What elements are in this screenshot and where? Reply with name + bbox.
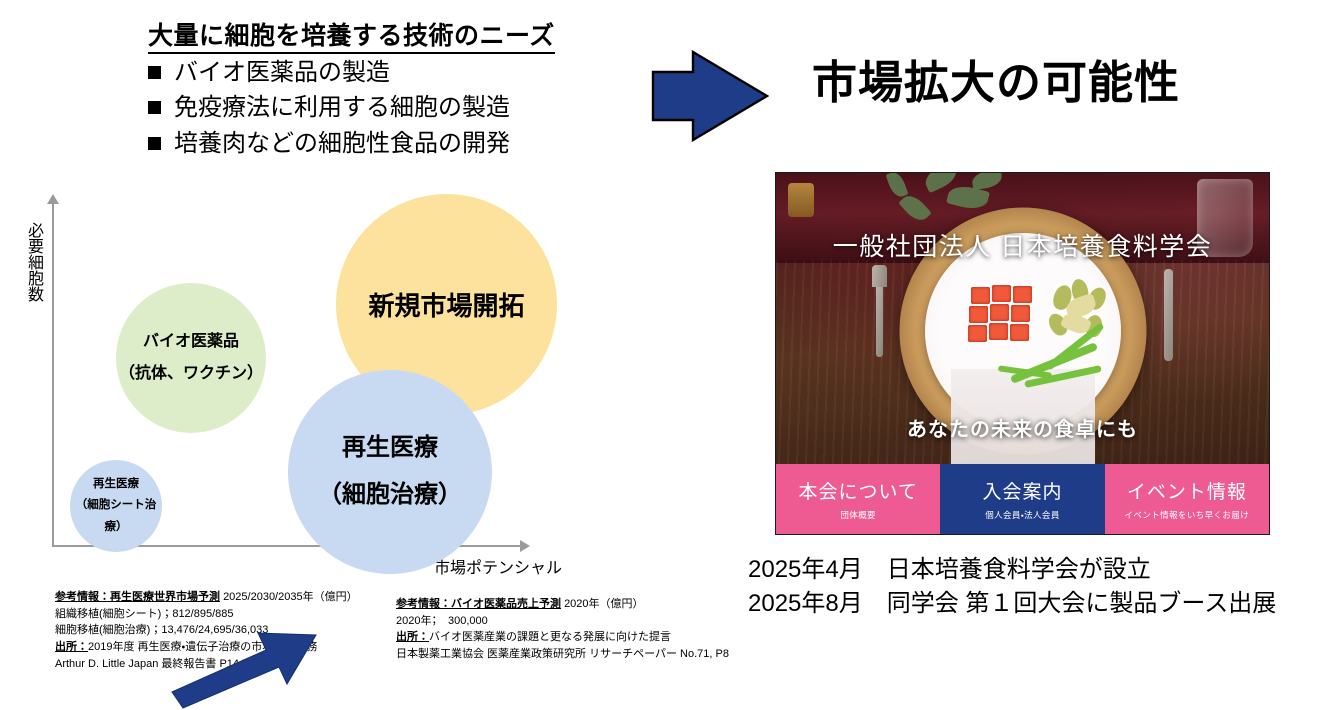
y-axis-arrowhead-icon (47, 194, 59, 204)
nav-item-sublabel: 団体概要 (840, 509, 876, 521)
cultured-meat-cube (1013, 286, 1032, 303)
timeline-entry: 2025年8月 同学会 第１回大会に製品ブース出展 (748, 587, 1276, 621)
footnote-heading-tail: 2020年（億円） (564, 598, 643, 610)
cultured-meat-cube (989, 323, 1008, 340)
growth-arrow-icon (170, 600, 320, 710)
needs-item-label: 培養肉などの細胞性食品の開発 (174, 128, 510, 161)
footnote-line: 2020年； 300,000 (396, 613, 729, 630)
cultured-meat-cube (1011, 305, 1030, 322)
needs-list-item: 培養肉などの細胞性食品の開発 (148, 128, 618, 161)
needs-item-label: 免疫療法に利用する細胞の製造 (174, 92, 510, 125)
timeline-entry: 2025年4月 日本培養食料学会が設立 (748, 553, 1276, 587)
bubble-label-line: バイオ医薬品 (143, 326, 239, 358)
footnote-heading: 参考情報：バイオ医薬品売上予測 (396, 598, 561, 610)
right-arrow-icon (650, 50, 770, 142)
nav-item-sublabel: 個人会員・法人会員 (985, 509, 1060, 521)
timeline-block: 2025年4月 日本培養食料学会が設立 2025年8月 同学会 第１回大会に製品… (748, 553, 1276, 621)
bubble-chart: 必要細胞数 市場ポテンシャル バイオ医薬品 （抗体、ワクチン） 新規市場開拓 再… (0, 180, 620, 580)
nav-item-label: イベント情報 (1127, 477, 1247, 504)
bubble-label-line: （細胞シート治療） (70, 495, 162, 538)
needs-title: 大量に細胞を培養する技術のニーズ (148, 22, 555, 54)
bubble-label-line: （細胞治療） (318, 472, 462, 519)
fork-tines-icon (872, 265, 887, 287)
knife-icon (1164, 269, 1173, 361)
footnote-source-text: バイオ医薬産業の課題と更なる発展に向けた提言 (429, 631, 671, 643)
cultured-meat-cube (992, 285, 1011, 302)
footnote-biopharma-sales: 参考情報：バイオ医薬品売上予測 2020年（億円） 2020年； 300,000… (396, 596, 729, 663)
nav-item-membership[interactable]: 入会案内 個人会員・法人会員 (940, 464, 1104, 534)
fork-icon (876, 281, 883, 357)
website-screenshot-panel: 一般社団法人 日本培養食料学会 あなたの未来の食卓にも 本会について 団体概要 … (775, 172, 1270, 535)
website-tagline: あなたの未来の食卓にも (776, 413, 1269, 442)
y-axis-label: 必要細胞数 (18, 222, 42, 302)
square-bullet-icon (148, 66, 161, 79)
cultured-meat-cube (969, 306, 988, 323)
nav-item-label: 本会について (798, 477, 917, 504)
cultured-meat-cube (1010, 324, 1029, 341)
cultured-meat-cube (968, 325, 987, 342)
cultured-meat-cube (990, 304, 1009, 321)
nav-item-sublabel: イベント情報をいち早くお届け (1125, 509, 1250, 521)
nav-item-events[interactable]: イベント情報 イベント情報をいち早くお届け (1105, 464, 1269, 534)
nav-item-about[interactable]: 本会について 団体概要 (776, 464, 940, 534)
website-hero-image: 一般社団法人 日本培養食料学会 あなたの未来の食卓にも (776, 173, 1269, 464)
slide-root: 大量に細胞を培養する技術のニーズ バイオ医薬品の製造 免疫療法に利用する細胞の製… (0, 0, 1339, 655)
bubble-label-line: （抗体、ワクチン） (119, 358, 263, 390)
footnote-source-label: 出所： (55, 641, 88, 653)
candle-decor (788, 183, 814, 217)
website-title: 一般社団法人 日本培養食料学会 (776, 227, 1269, 263)
nav-item-label: 入会案内 (982, 477, 1062, 504)
needs-list-item: 免疫療法に利用する細胞の製造 (148, 92, 618, 125)
square-bullet-icon (148, 101, 161, 114)
bubble-label-line: 新規市場開拓 (368, 286, 524, 323)
x-axis-label: 市場ポテンシャル (434, 554, 562, 578)
website-nav-bar: 本会について 団体概要 入会案内 個人会員・法人会員 イベント情報 イベント情報… (776, 464, 1269, 534)
needs-block: 大量に細胞を培養する技術のニーズ バイオ医薬品の製造 免疫療法に利用する細胞の製… (148, 22, 618, 161)
square-bullet-icon (148, 137, 161, 150)
footnote-source-label: 出所： (396, 631, 429, 643)
page-title: 市場拡大の可能性 (812, 58, 1312, 108)
bubble-label-line: 再生医療 (342, 425, 438, 472)
needs-list-item: バイオ医薬品の製造 (148, 57, 618, 90)
x-axis-arrowhead-icon (520, 540, 530, 552)
cultured-meat-cube (971, 287, 990, 304)
bubble-regenerative-large: 再生医療 （細胞治療） (288, 370, 492, 574)
y-axis-line (52, 202, 54, 547)
bubble-biopharma: バイオ医薬品 （抗体、ワクチン） (116, 283, 266, 433)
footnote-line: 参考情報：バイオ医薬品売上予測 2020年（億円） (396, 596, 729, 613)
footnote-line: 出所：バイオ医薬産業の課題と更なる発展に向けた提言 (396, 629, 729, 646)
needs-item-label: バイオ医薬品の製造 (174, 57, 390, 90)
bubble-label-line: 再生医療 (93, 474, 139, 495)
bubble-regenerative-small: 再生医療 （細胞シート治療） (70, 460, 162, 552)
